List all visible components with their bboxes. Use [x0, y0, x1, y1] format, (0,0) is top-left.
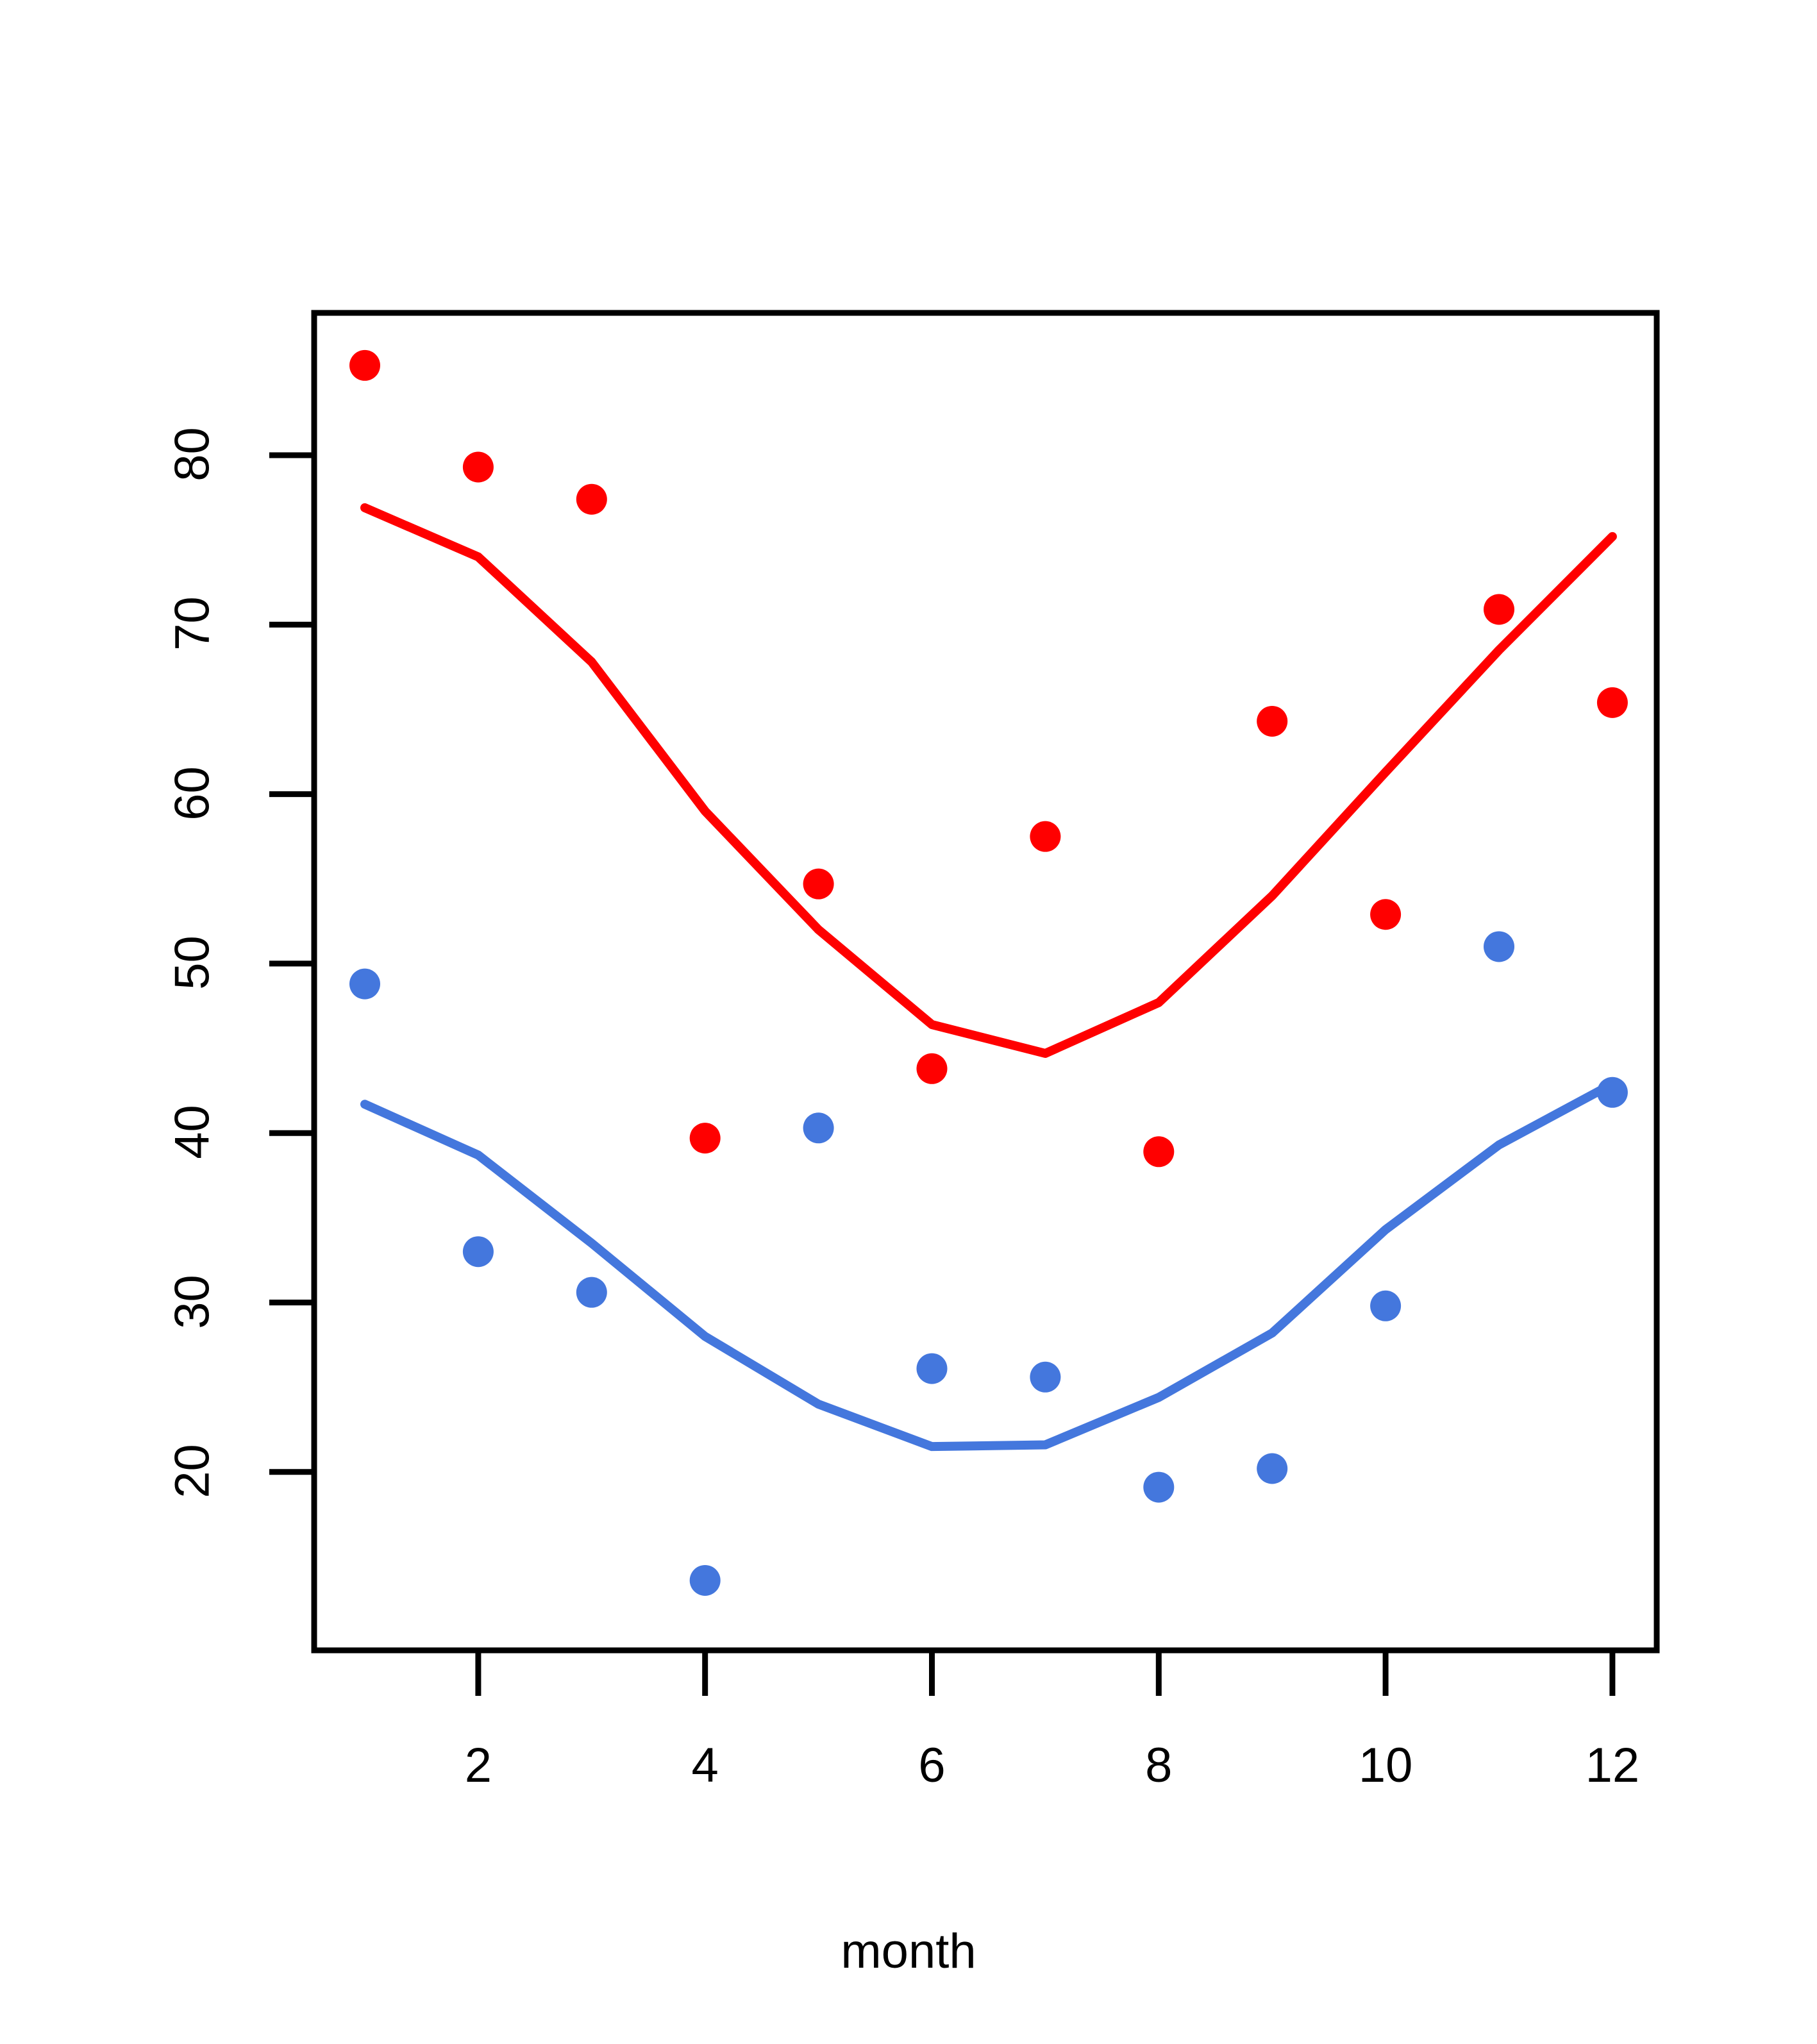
data-point-red-points: [349, 350, 380, 381]
y-tick-label: 40: [165, 1081, 221, 1184]
data-point-blue-points: [1257, 1453, 1287, 1484]
data-point-blue-points: [349, 969, 380, 1000]
y-tick-label: 50: [165, 911, 221, 1014]
data-point-red-points: [1030, 821, 1060, 852]
chart-page: GHCN-D_ASN00041156_01_rr 20304050607080 …: [0, 0, 1817, 2044]
data-point-red-points: [463, 452, 494, 483]
data-point-red-points: [1484, 594, 1514, 625]
x-axis-title: month: [0, 1923, 1817, 1979]
x-tick-label: 6: [868, 1738, 996, 1793]
data-point-blue-points: [803, 1112, 834, 1143]
y-tick-label: 60: [165, 742, 221, 844]
x-tick-label: 2: [414, 1738, 542, 1793]
data-point-red-points: [1257, 706, 1287, 737]
data-point-red-points: [1597, 687, 1628, 718]
data-point-red-points: [803, 869, 834, 900]
x-tick-label: 10: [1321, 1738, 1450, 1793]
data-point-red-points: [1143, 1136, 1174, 1167]
y-tick-label: 30: [165, 1250, 221, 1353]
y-tick-label: 20: [165, 1420, 221, 1522]
data-point-red-points: [1370, 899, 1401, 930]
x-tick-label: 8: [1094, 1738, 1223, 1793]
data-point-red-points: [576, 484, 607, 515]
data-point-blue-points: [690, 1565, 721, 1596]
y-tick-label: 80: [165, 403, 221, 506]
data-point-blue-points: [1370, 1291, 1401, 1321]
data-point-blue-points: [1030, 1362, 1060, 1393]
data-point-red-points: [690, 1123, 721, 1153]
data-point-blue-points: [1597, 1077, 1628, 1108]
data-point-blue-points: [1484, 931, 1514, 962]
y-tick-label: 70: [165, 573, 221, 675]
data-point-blue-points: [917, 1353, 948, 1384]
data-point-blue-points: [463, 1236, 494, 1267]
data-point-blue-points: [576, 1277, 607, 1308]
data-point-red-points: [917, 1053, 948, 1084]
data-point-blue-points: [1143, 1472, 1174, 1503]
x-tick-label: 12: [1548, 1738, 1677, 1793]
x-tick-label: 4: [641, 1738, 769, 1793]
